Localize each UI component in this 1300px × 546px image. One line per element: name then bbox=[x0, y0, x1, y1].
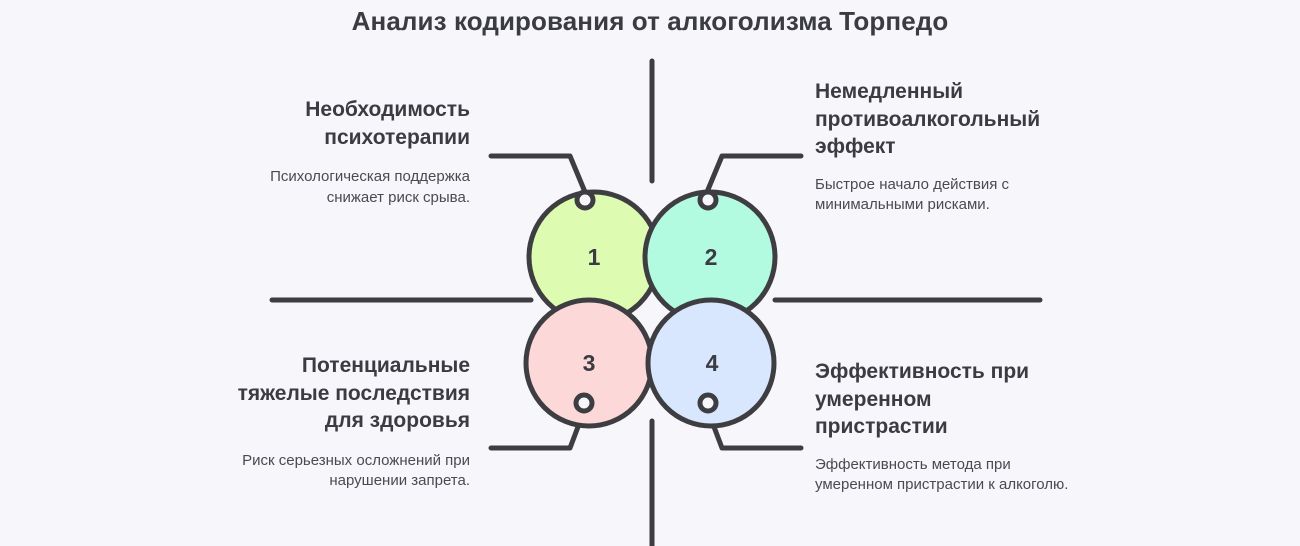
quadrant-bottom-left: Потенциальные тяжелые последствия для зд… bbox=[230, 352, 470, 491]
leader-line-2 bbox=[707, 156, 801, 192]
circle-1-number: 1 bbox=[588, 244, 601, 270]
ring-marker-3[interactable] bbox=[576, 395, 592, 411]
quadrant-3-heading: Потенциальные тяжелые последствия для зд… bbox=[230, 352, 470, 435]
quadrant-1-body: Психологическая поддержка снижает риск с… bbox=[230, 167, 470, 207]
ring-marker-2[interactable] bbox=[700, 192, 716, 208]
four-circle-diagram: 1 2 3 4 bbox=[0, 0, 1300, 546]
quadrant-2-heading: Немедленный противоалкогольный эффект bbox=[815, 78, 1070, 161]
quadrant-4-heading: Эффективность при умеренном пристрастии bbox=[815, 358, 1070, 441]
circle-3-number: 3 bbox=[583, 350, 596, 376]
circle-2-number: 2 bbox=[705, 244, 718, 270]
quadrant-top-right: Немедленный противоалкогольный эффект Бы… bbox=[815, 78, 1070, 215]
quadrant-top-left: Необходимость психотерапии Психологическ… bbox=[230, 96, 470, 208]
quadrant-bottom-right: Эффективность при умеренном пристрастии … bbox=[815, 358, 1070, 495]
circle-4-number: 4 bbox=[706, 350, 719, 376]
quadrant-4-body: Эффективность метода при умеренном прист… bbox=[815, 455, 1070, 495]
quadrant-3-body: Риск серьезных осложнений при нарушении … bbox=[230, 451, 470, 491]
quadrant-1-heading: Необходимость психотерапии bbox=[230, 96, 470, 151]
ring-marker-4[interactable] bbox=[700, 395, 716, 411]
leader-line-1 bbox=[491, 156, 585, 192]
quadrant-2-body: Быстрое начало действия с минимальными р… bbox=[815, 175, 1070, 215]
ring-marker-1[interactable] bbox=[577, 192, 593, 208]
infographic-canvas: Анализ кодирования от алкоголизма Торпед… bbox=[0, 0, 1300, 546]
